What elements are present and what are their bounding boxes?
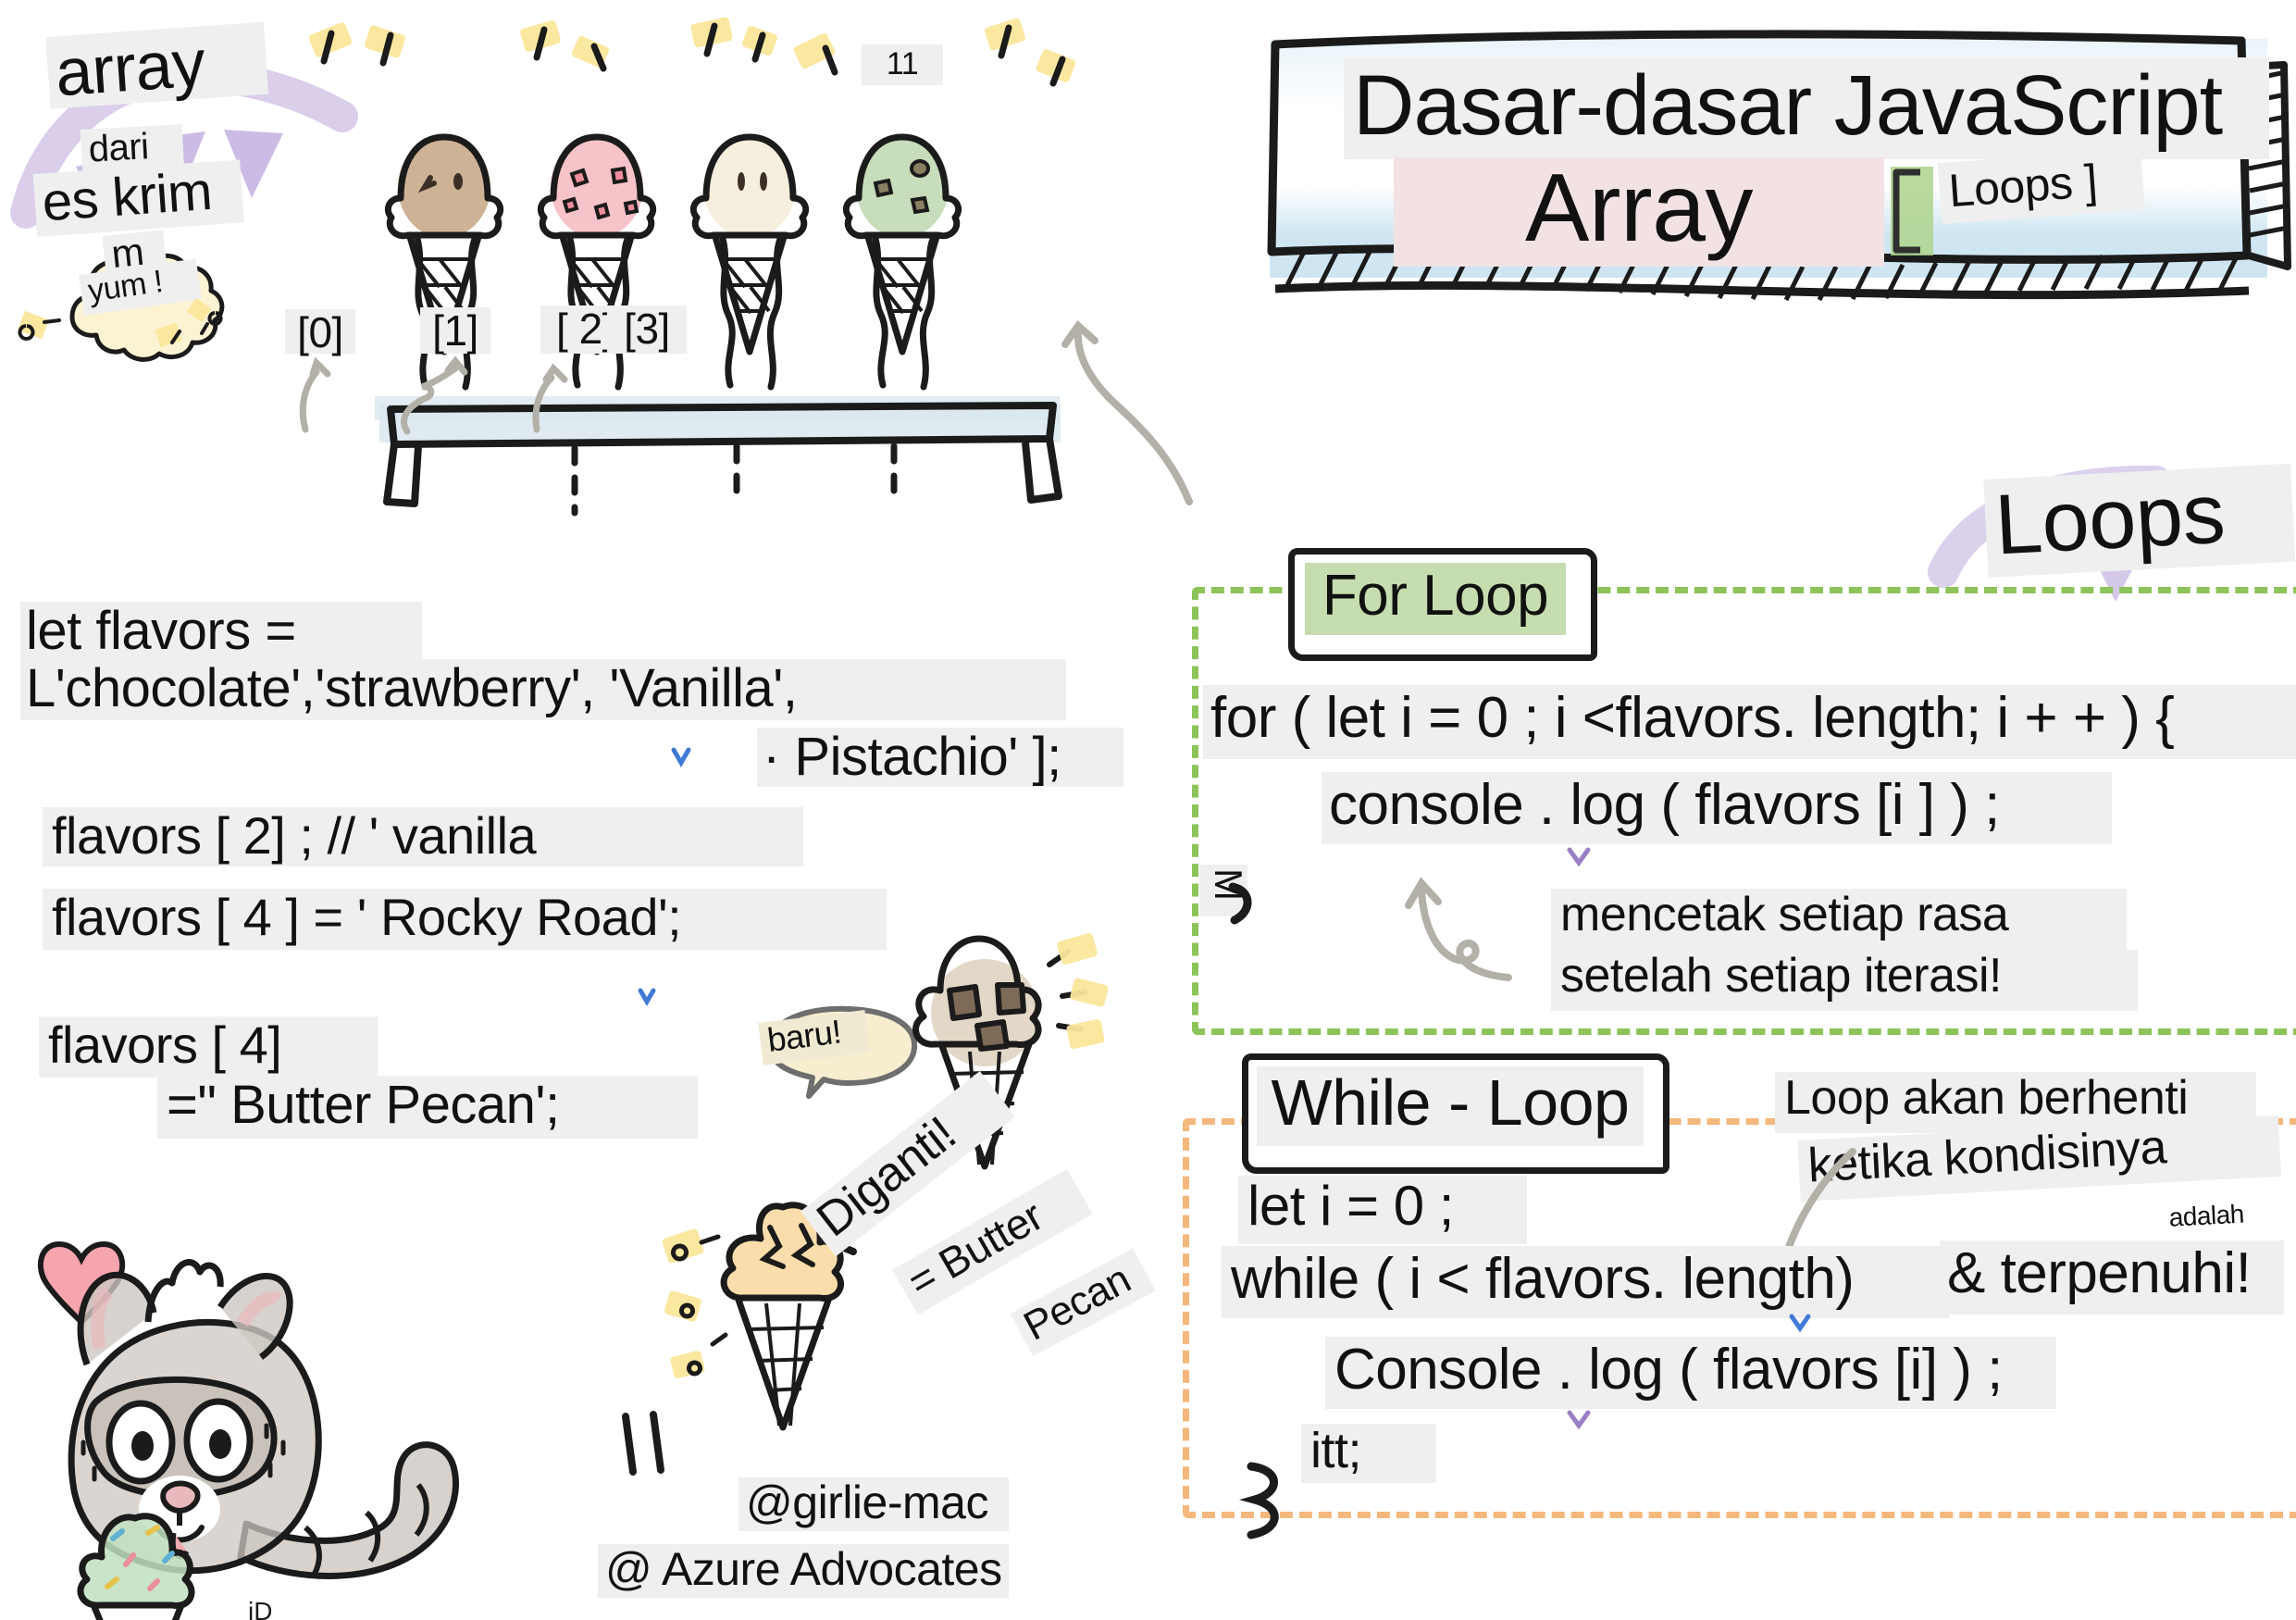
while-loop-line-3: Console . log ( flavors [i] ) ; [1325, 1337, 2056, 1409]
credit-handle: @girlie-mac [738, 1477, 1009, 1531]
while-loop-note-small: adalah [2165, 1200, 2277, 1239]
label-array: array [45, 22, 268, 109]
while-loop-line-1: let i = 0 ; [1238, 1176, 1527, 1244]
index-pointer-arrows [259, 350, 740, 433]
callout-pecan: Pecan [1011, 1249, 1156, 1356]
while-loop-line-2: while ( i < flavors. length) [1222, 1246, 1949, 1318]
array-index-0: [0] [285, 309, 355, 354]
array-index-3: [3] [607, 305, 687, 354]
array-index-1: [1] [420, 307, 490, 354]
credit-org: @ Azure Advocates [598, 1544, 1009, 1598]
while-loop-line-4: itt; [1301, 1424, 1436, 1483]
for-loop-label: For Loop [1305, 563, 1566, 635]
note-pointer-arrow [1370, 868, 1536, 989]
title-subject: Array [1394, 157, 1884, 267]
crumb-strokes-decoration [17, 305, 248, 380]
while-loop-terpenuhi-note: & terpenuhi! [1940, 1240, 2284, 1315]
for-loop-line-2: console . log ( flavors [i ] ) ; [1322, 772, 2112, 844]
purple-tick-decoration [1564, 1407, 1601, 1444]
purple-tick-decoration [1564, 844, 1601, 881]
code-line-butter-pecan: =" Butter Pecan'; [157, 1076, 698, 1139]
pistachio-cone [846, 136, 958, 387]
for-loop-note-line-2: setelah setiap iterasi! [1551, 950, 2138, 1011]
svg-text:iD: iD [248, 1597, 272, 1620]
code-line-flavors-4: flavors [ 4] [39, 1016, 378, 1078]
while-closing-brace [1231, 1459, 1305, 1542]
loops-section-title: Loops [1983, 464, 2295, 578]
raccoon-illustration: iD [9, 1194, 639, 1620]
open-bracket-decoration [1881, 157, 1946, 267]
blue-tick-decoration [0, 592, 1111, 981]
tick-marks-decoration [611, 1407, 685, 1490]
for-loop-note-line-1: mencetak setiap rasa [1551, 889, 2127, 950]
curly-pointer-arrow [1050, 317, 1217, 530]
blue-tick-decoration [1786, 1311, 1823, 1348]
brace-tail-decoration [1220, 881, 1275, 946]
for-loop-line-1: for ( let i = 0 ; i <flavors. length; i … [1203, 685, 2296, 759]
while-loop-label: While - Loop [1257, 1066, 1644, 1146]
confetti-decoration [305, 20, 1231, 131]
title-heading: Dasar-dasar JavaScript [1344, 57, 2269, 159]
